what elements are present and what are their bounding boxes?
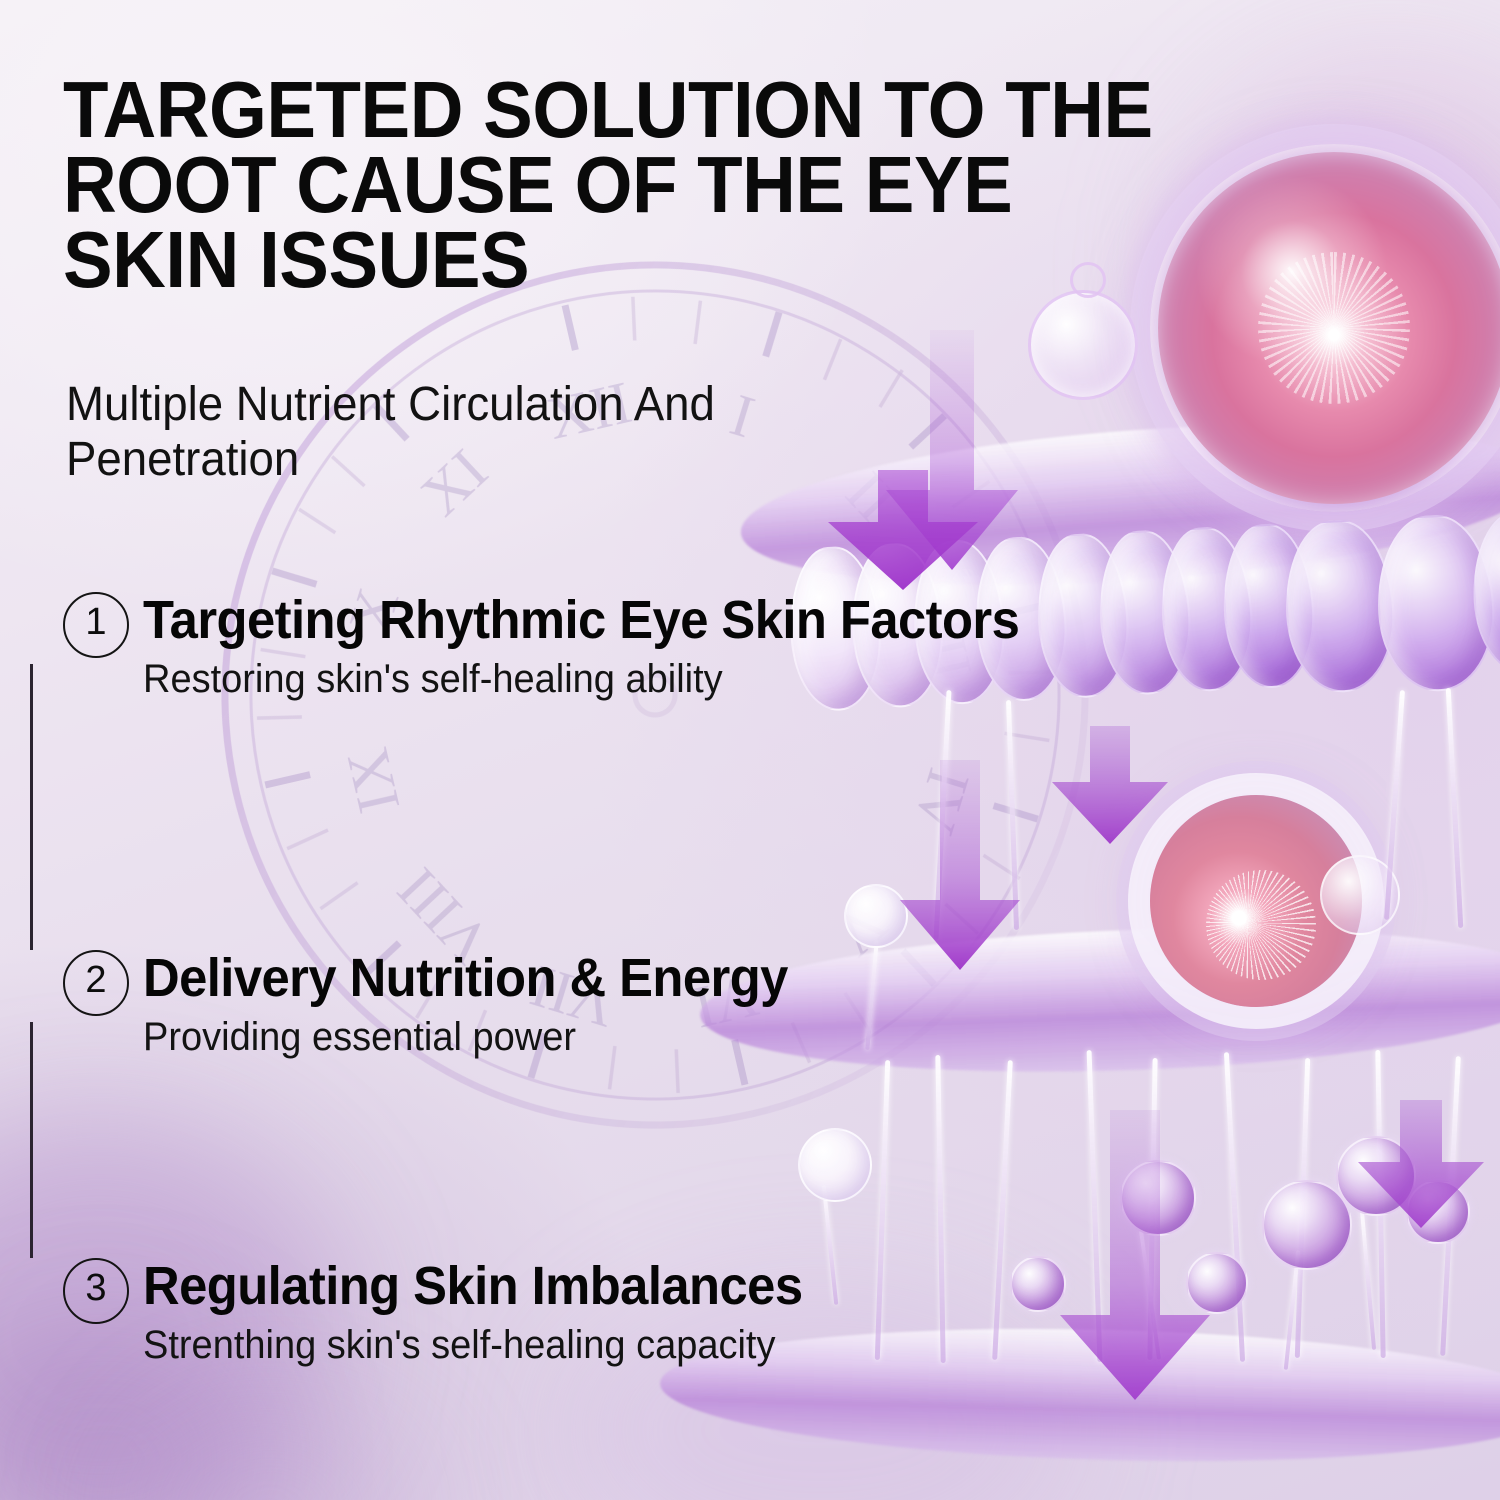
step-body: Targeting Rhythmic Eye Skin Factors Rest…: [143, 592, 1075, 701]
step-title: Delivery Nutrition & Energy: [143, 950, 788, 1007]
step-number-badge: 1: [63, 592, 129, 658]
step-subtitle: Providing essential power: [143, 1015, 795, 1059]
step-body: Delivery Nutrition & Energy Providing es…: [143, 950, 829, 1059]
step-subtitle: Strenthing skin's self-healing capacity: [143, 1323, 810, 1367]
step-number-badge: 2: [63, 950, 129, 1016]
step-subtitle: Restoring skin's self-healing ability: [143, 657, 1029, 701]
list-item: 3 Regulating Skin Imbalances Strenthing …: [63, 1258, 845, 1367]
step-title: Targeting Rhythmic Eye Skin Factors: [143, 592, 1019, 649]
infographic-canvas: XII I II III IV V VI VII VIII IX X XI: [0, 0, 1500, 1500]
list-item: 2 Delivery Nutrition & Energy Providing …: [63, 950, 829, 1059]
step-connector-line: [30, 1022, 33, 1258]
step-title: Regulating Skin Imbalances: [143, 1258, 802, 1315]
steps-list: 1 Targeting Rhythmic Eye Skin Factors Re…: [0, 0, 1500, 1500]
step-body: Regulating Skin Imbalances Strenthing sk…: [143, 1258, 845, 1367]
step-number-badge: 3: [63, 1258, 129, 1324]
list-item: 1 Targeting Rhythmic Eye Skin Factors Re…: [63, 592, 1075, 701]
step-connector-line: [30, 664, 33, 950]
